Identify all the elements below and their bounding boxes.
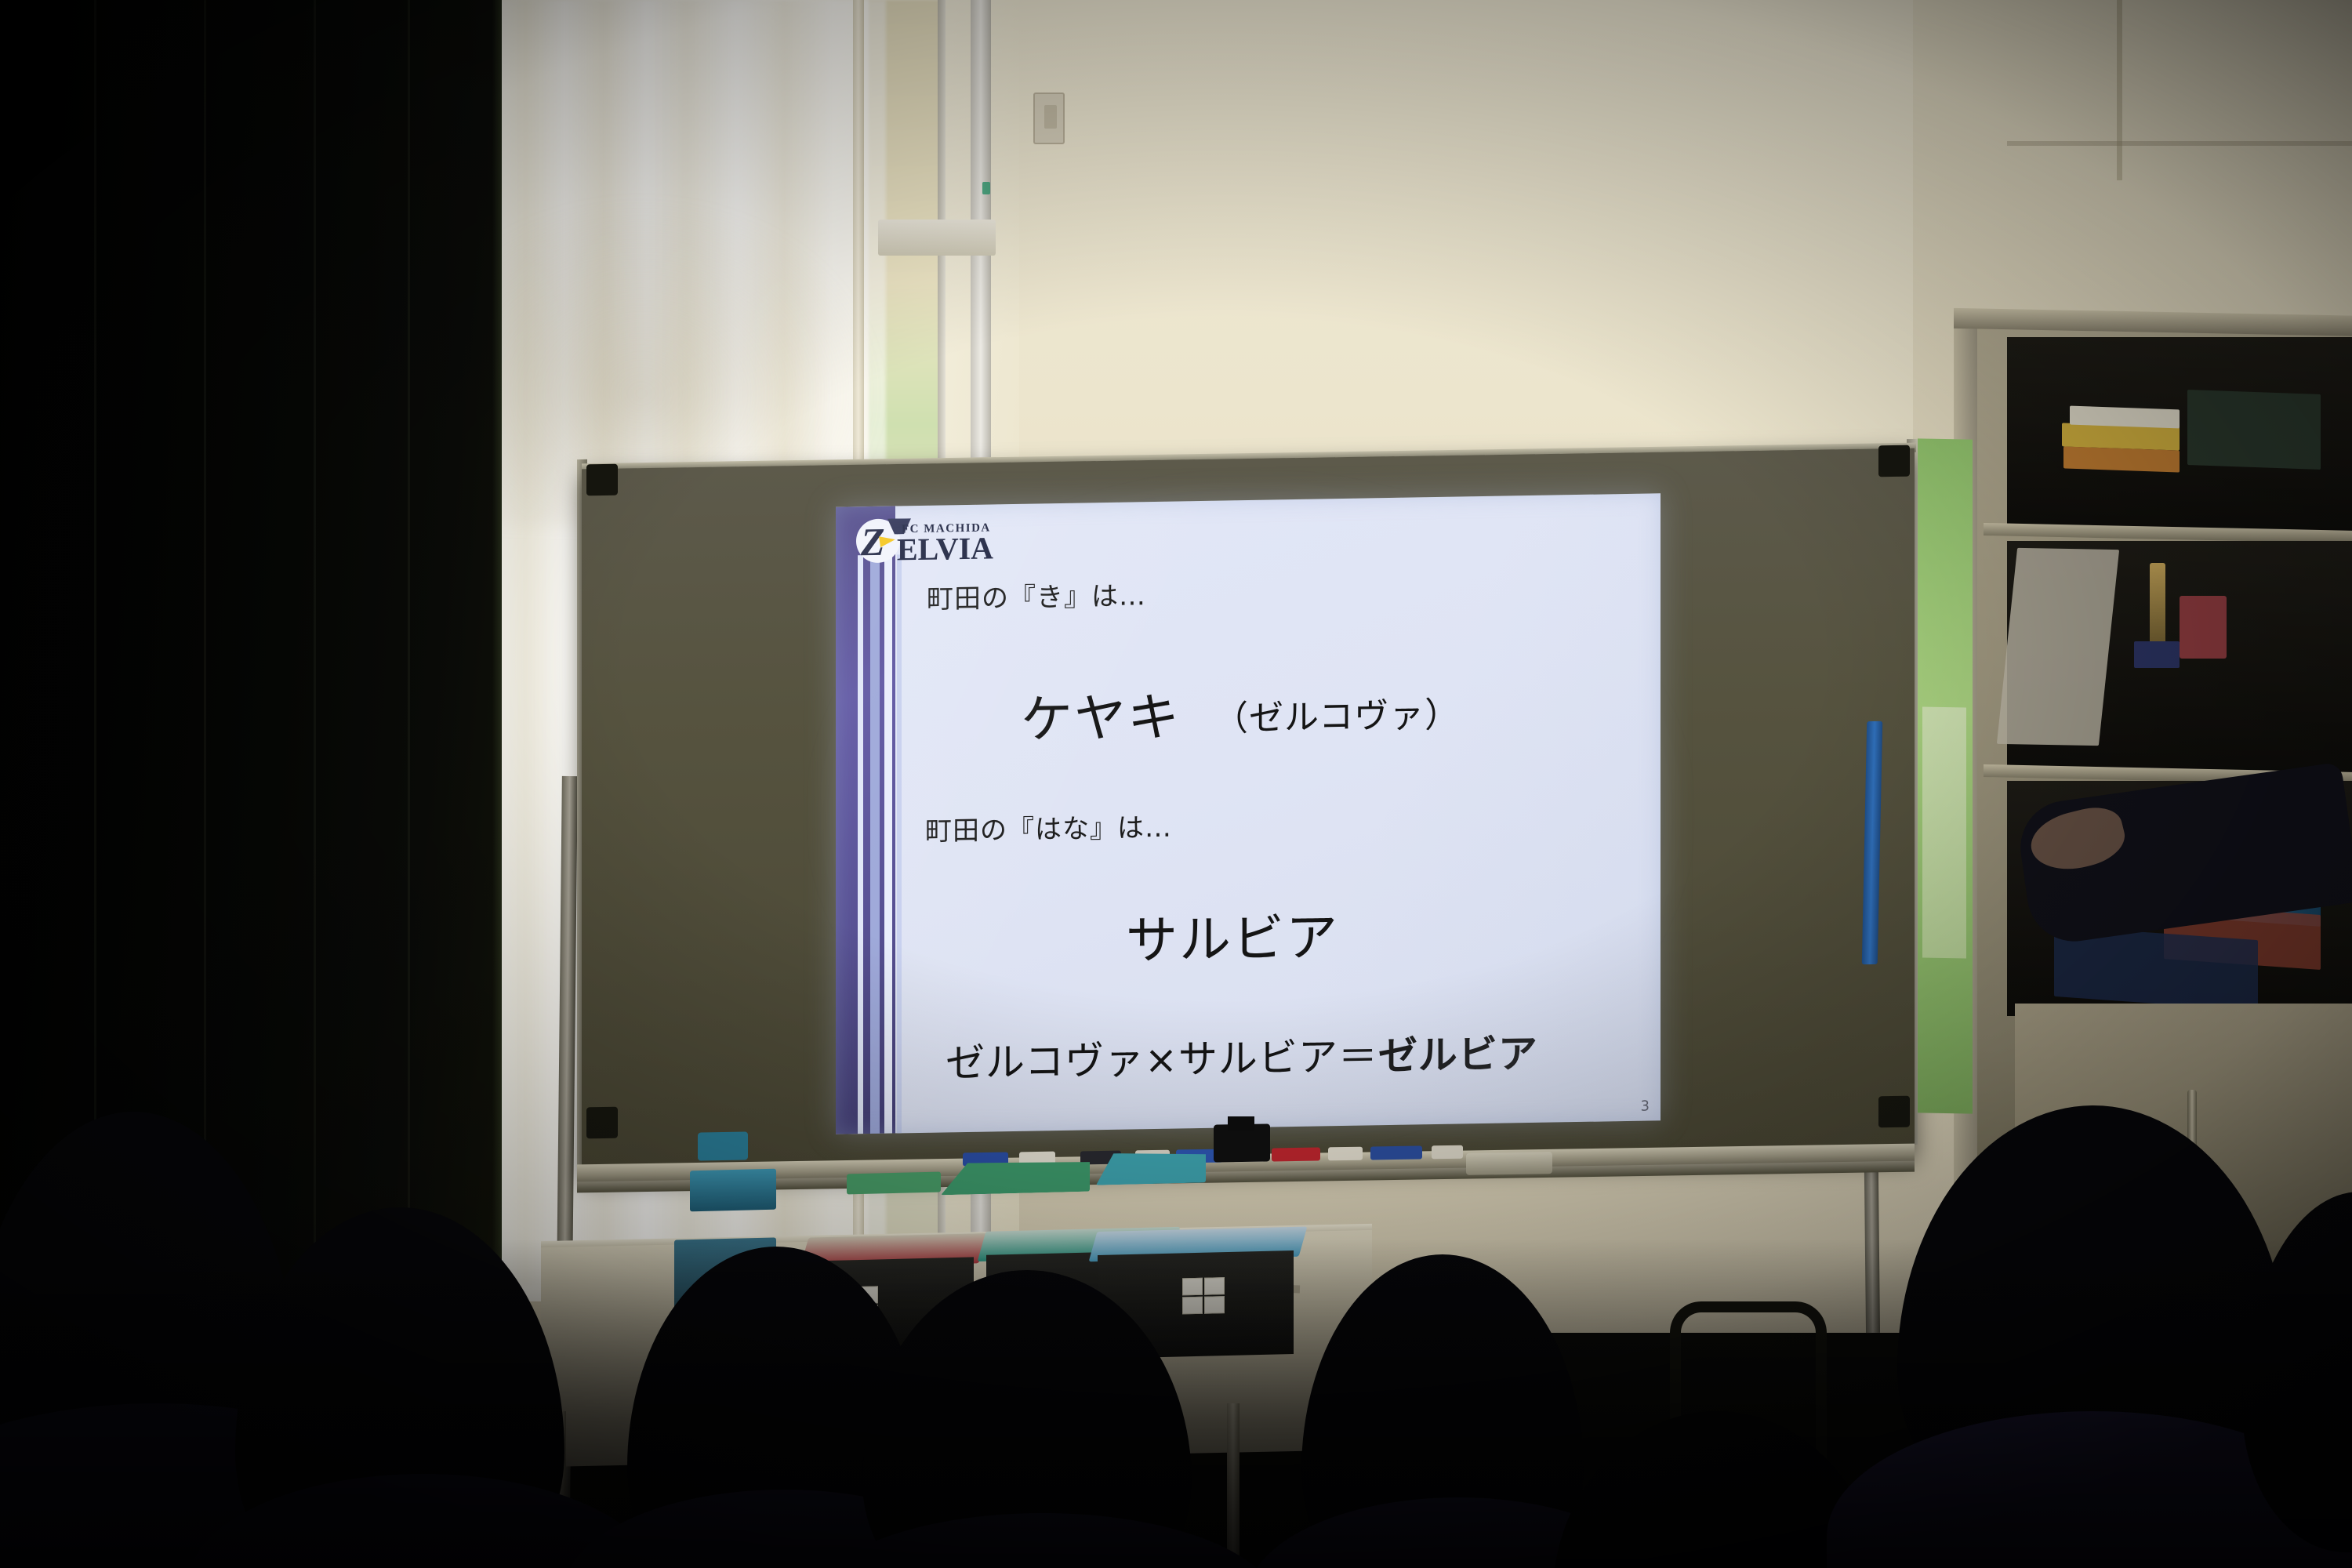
shelf-item-white-paper [2070,406,2180,429]
box-label-8 [1204,1296,1225,1314]
slide-equation-result: ゼルビア [1378,1031,1538,1079]
shelf-item-red [2180,596,2227,659]
table-item-blue-block [690,1169,776,1212]
table-item-teal-folder [1096,1151,1206,1185]
projected-slide: Z FC MACHIDA ELVIA 町田の『き』は… ケヤキ （ゼルコヴァ） … [836,493,1661,1134]
slide-label-flower: 町田の『はな』は… [925,806,1172,848]
slide-label-tree: 町田の『き』は… [927,574,1146,616]
slide-equation: ゼルコヴァ×サルビア＝ゼルビア [946,1022,1538,1089]
tray-clip-left [698,1131,748,1160]
slide-answer-tree: ケヤキ [1021,675,1181,753]
shelf-item-orange-binder [2063,446,2180,472]
shelf-item-trophy [2150,563,2165,649]
slide-stripe-1 [858,555,863,1134]
wall-pipe-vertical [2117,0,2122,180]
whiteboard-eraser[interactable] [1466,1152,1552,1175]
window-green-marker [982,182,990,194]
zelvia-logo: Z FC MACHIDA ELVIA [856,517,1013,575]
logo-club-name: ELVIA [897,532,993,565]
classroom-scene: Z FC MACHIDA ELVIA 町田の『き』は… ケヤキ （ゼルコヴァ） … [0,0,2352,1568]
whiteboard-corner-bottom-left [586,1107,618,1139]
marker-blue-3[interactable] [1370,1145,1422,1160]
slide-stripe-3 [884,555,892,1134]
whiteboard-corner-bottom-right [1878,1096,1910,1128]
shelf-item-green-board [2187,390,2321,470]
marker-red-1[interactable] [1272,1148,1320,1162]
whiteboard-corner-top-right [1878,445,1910,477]
table-leg-right [1227,1403,1240,1568]
wall-outlet [1033,93,1065,144]
whiteboard-corner-top-left [586,464,618,496]
marker-white-5[interactable] [1432,1145,1463,1160]
slide-equation-left: ゼルコヴァ×サルビア＝ [946,1033,1378,1086]
shelf-item-document [1997,548,2119,746]
marker-white-4[interactable] [1328,1147,1363,1161]
shelf-item-trophy-base [2134,641,2180,668]
slide-page-number: 3 [1641,1098,1650,1115]
wall-trim-horizontal [2007,141,2352,146]
box-label-6 [1204,1277,1225,1295]
slide-answer-flower: サルビア [1126,895,1339,975]
window-latch [878,220,996,256]
green-board-notice [1922,707,1966,959]
box-label-5 [1182,1278,1203,1296]
slide-answer-tree-reading: （ゼルコヴァ） [1214,687,1460,741]
slide-stripe-2 [870,555,880,1134]
projector-mount-post [1228,1116,1254,1131]
table-item-green-sheet [847,1172,941,1195]
slide-stripe-4 [897,554,902,1133]
box-label-7 [1182,1297,1203,1315]
